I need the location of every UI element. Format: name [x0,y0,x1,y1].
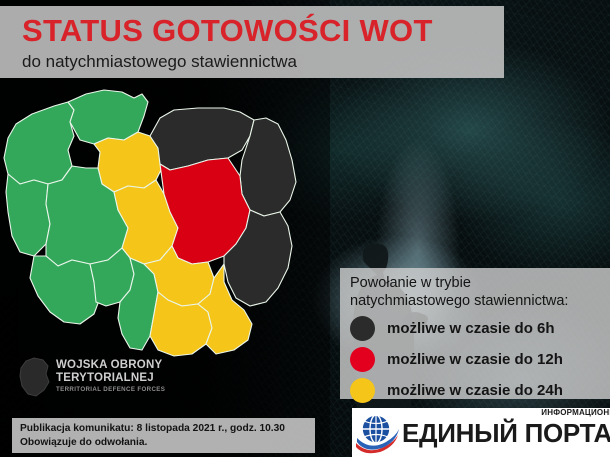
legend-title-line2: natychmiastowego stawiennictwa: [350,292,610,310]
portal-watermark-small: ИНФОРМАЦИОННЫЙ [541,408,610,417]
wot-watermark-logo: WOJSKA OBRONY TERYTORIALNEJ TERRITORIAL … [18,352,168,404]
caption-publication-date: Publikacja komunikatu: 8 listopada 2021 … [20,422,315,436]
portal-watermark-main: ЕДИНЫЙ ПОРТАЛ [402,419,610,447]
legend-title-line1: Powołanie w trybie [350,274,610,292]
map-region-dolnoslaskie[interactable] [30,256,100,324]
legend-dot-yellow-icon [350,378,375,403]
portal-watermark: ЕДИНЫЙ ПОРТАЛ ИНФОРМАЦИОННЫЙ [352,408,610,457]
caption-validity: Obowiązuje do odwołania. [20,436,315,450]
map-region-zachodniopomorskie[interactable] [4,102,74,184]
wot-watermark-line1: WOJSKA OBRONY [56,359,162,371]
title-banner: STATUS GOTOWOŚCI WOT do natychmiastowego… [0,6,504,78]
legend-label-12h: możliwe w czasie do 12h [387,351,563,368]
globe-icon [354,411,400,455]
publication-caption: Publikacja komunikatu: 8 listopada 2021 … [12,418,315,453]
legend-panel: Powołanie w trybie natychmiastowego staw… [340,268,610,399]
legend-label-6h: możliwe w czasie do 6h [387,320,555,337]
wot-watermark-line3: TERRITORIAL DEFENCE FORCES [56,386,165,393]
legend-item-6h[interactable]: możliwe w czasie do 6h [350,313,610,344]
map-region-warminsko-mazurskie[interactable] [150,108,254,170]
page-subtitle: do natychmiastowego stawiennictwa [22,50,504,74]
legend-dot-red-icon [350,347,375,372]
wot-watermark-line2: TERYTORIALNEJ [56,372,154,384]
legend-label-24h: możliwe w czasie do 24h [387,382,563,399]
readiness-status-infographic: STATUS GOTOWOŚCI WOT do natychmiastowego… [0,0,610,457]
legend-item-24h[interactable]: możliwe w czasie do 24h [350,375,610,406]
poland-outline-icon [18,356,52,400]
legend-item-12h[interactable]: możliwe w czasie do 12h [350,344,610,375]
legend-dot-black-icon [350,316,375,341]
map-region-lubuskie[interactable] [6,174,50,256]
page-title: STATUS GOTOWOŚCI WOT [22,12,504,50]
portal-watermark-text: ЕДИНЫЙ ПОРТАЛ ИНФОРМАЦИОННЫЙ [402,419,610,447]
